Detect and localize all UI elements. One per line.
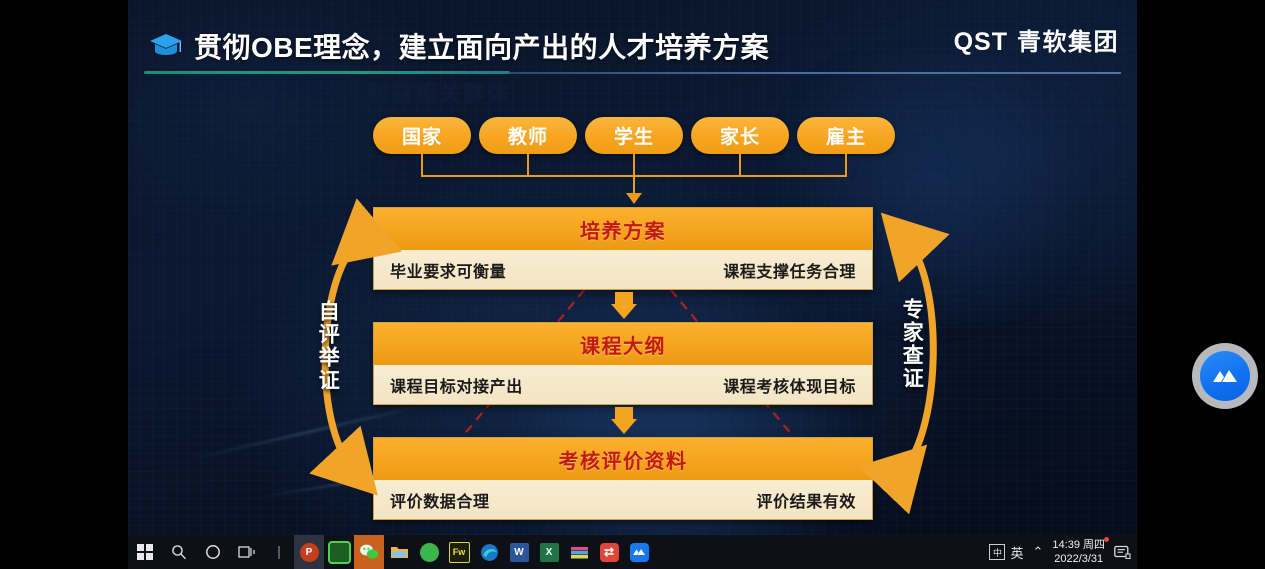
- flow-box-2-title: 考核评价资料: [373, 437, 873, 480]
- right-cycle-label: 专家查证: [900, 298, 922, 390]
- flow-box-1[interactable]: 课程大纲 课程目标对接产出 课程考核体现目标: [373, 322, 873, 405]
- brand-mark: QST: [954, 30, 1008, 55]
- flow-box-1-title: 课程大纲: [373, 322, 873, 365]
- edge-icon: [480, 543, 499, 562]
- flow-arrow-0: [611, 292, 637, 319]
- taskbar-app-wps-green[interactable]: [324, 535, 354, 569]
- clock-time: 14:39 周四: [1052, 538, 1105, 552]
- pill-connector-0: [421, 154, 423, 176]
- slide-header: 利益相关群体 贯彻OBE理念，建立面向产出的人才培养方案 QST 青软集团: [128, 0, 1137, 80]
- windows-taskbar: P: [128, 535, 1137, 569]
- ime-mode-label: 英: [1010, 543, 1023, 562]
- flow-box-2[interactable]: 考核评价资料 评价数据合理 评价结果有效: [373, 437, 873, 520]
- pill-connector-1: [527, 154, 529, 176]
- header-rule-teal: [144, 71, 510, 74]
- task-view-button[interactable]: [230, 535, 264, 569]
- brand-name-cn: 青软集团: [1017, 31, 1119, 55]
- stakeholder-pill-2[interactable]: 学生: [585, 117, 683, 154]
- taskbar-divider: [264, 535, 294, 569]
- flow-arrow-1: [611, 407, 637, 434]
- stakeholder-pill-3[interactable]: 家长: [691, 117, 789, 154]
- taskbar-app-green-circle[interactable]: [414, 535, 444, 569]
- colorful-app-icon: [570, 545, 589, 560]
- screen: 利益相关群体 贯彻OBE理念，建立面向产出的人才培养方案 QST 青软集团 国家…: [0, 0, 1265, 569]
- flow-box-1-body: 课程目标对接产出 课程考核体现目标: [373, 365, 873, 405]
- green-circle-icon: [420, 543, 439, 562]
- flow-box-0-title: 培养方案: [373, 207, 873, 250]
- taskbar-app-excel[interactable]: X: [534, 535, 564, 569]
- pill-connector-2: [633, 154, 635, 194]
- circle-icon: [205, 544, 221, 560]
- blue-meeting-icon: [630, 543, 649, 562]
- taskbar-app-word[interactable]: W: [504, 535, 534, 569]
- taskbar-app-red-transfer[interactable]: ⇄: [594, 535, 624, 569]
- flow-box-1-right: 课程考核体现目标: [723, 373, 856, 397]
- pill-connector-4: [845, 154, 847, 176]
- taskview-icon: [238, 545, 256, 560]
- pill-bus-arrowhead: [626, 193, 642, 204]
- stakeholder-pill-4[interactable]: 雇主: [797, 117, 895, 154]
- wechat-icon: [359, 543, 379, 561]
- system-tray: 中 英 ⌃ 14:39 周四 2022/3/31: [989, 535, 1137, 569]
- page-title: 贯彻OBE理念，建立面向产出的人才培养方案: [194, 26, 769, 66]
- fireworks-icon: Fw: [449, 542, 470, 563]
- taskbar-app-blue-meeting[interactable]: [624, 535, 654, 569]
- taskbar-app-edge[interactable]: [474, 535, 504, 569]
- taskbar-app-powerpoint[interactable]: P: [294, 535, 324, 569]
- right-cycle-arrow: [883, 222, 963, 490]
- stakeholder-pill-1[interactable]: 教师: [479, 117, 577, 154]
- pill-connector-3: [739, 154, 741, 176]
- notification-icon[interactable]: [1114, 545, 1131, 560]
- ghost-subtitle: 利益相关群体: [367, 76, 511, 108]
- ime-indicator[interactable]: 中 英: [989, 543, 1023, 562]
- letterbox-right: [1137, 0, 1265, 535]
- taskbar-left-group: P: [128, 535, 654, 569]
- pill-connector-bus: [421, 175, 847, 177]
- graduation-cap-icon: [149, 33, 183, 57]
- flow-box-1-left: 课程目标对接产出: [390, 373, 523, 397]
- clock[interactable]: 14:39 周四 2022/3/31: [1052, 538, 1105, 566]
- letterbox-left: [0, 0, 128, 569]
- divider-bar: [278, 546, 280, 559]
- left-cycle-label: 自评举证: [316, 300, 338, 392]
- taskbar-app-file-explorer[interactable]: [384, 535, 414, 569]
- letterbox-bottom-right: [1137, 535, 1265, 569]
- taskbar-app-wechat[interactable]: [354, 535, 384, 569]
- header-rule-blue: [510, 72, 1121, 74]
- brand-logo: QST 青软集团: [954, 30, 1119, 55]
- cortana-button[interactable]: [196, 535, 230, 569]
- wps-green-icon: [328, 541, 351, 564]
- chevron-up-icon[interactable]: ⌃: [1033, 544, 1044, 560]
- flow-box-0[interactable]: 培养方案 毕业要求可衡量 课程支撑任务合理: [373, 207, 873, 290]
- clock-date: 2022/3/31: [1052, 552, 1105, 566]
- stakeholder-pill-0[interactable]: 国家: [373, 117, 471, 154]
- floating-meeting-button[interactable]: [1192, 343, 1258, 409]
- meeting-app-icon: [1200, 351, 1250, 401]
- powerpoint-icon: P: [300, 543, 319, 562]
- flow-box-2-right: 评价结果有效: [756, 488, 856, 512]
- search-button[interactable]: [162, 535, 196, 569]
- word-icon: W: [510, 543, 529, 562]
- presentation-slide: 利益相关群体 贯彻OBE理念，建立面向产出的人才培养方案 QST 青软集团 国家…: [128, 0, 1137, 535]
- flow-box-2-left: 评价数据合理: [390, 488, 490, 512]
- folder-icon: [390, 544, 409, 560]
- notification-dot: [1104, 537, 1109, 542]
- taskbar-app-fireworks[interactable]: Fw: [444, 535, 474, 569]
- flow-box-0-right: 课程支撑任务合理: [723, 258, 856, 282]
- taskbar-app-colorful[interactable]: [564, 535, 594, 569]
- start-button[interactable]: [128, 535, 162, 569]
- ime-mode-box: 中: [989, 544, 1005, 560]
- search-icon: [171, 544, 187, 560]
- excel-icon: X: [540, 543, 559, 562]
- flow-box-2-body: 评价数据合理 评价结果有效: [373, 480, 873, 520]
- flow-box-0-left: 毕业要求可衡量: [390, 258, 506, 282]
- red-transfer-icon: ⇄: [600, 543, 619, 562]
- flow-box-0-body: 毕业要求可衡量 课程支撑任务合理: [373, 250, 873, 290]
